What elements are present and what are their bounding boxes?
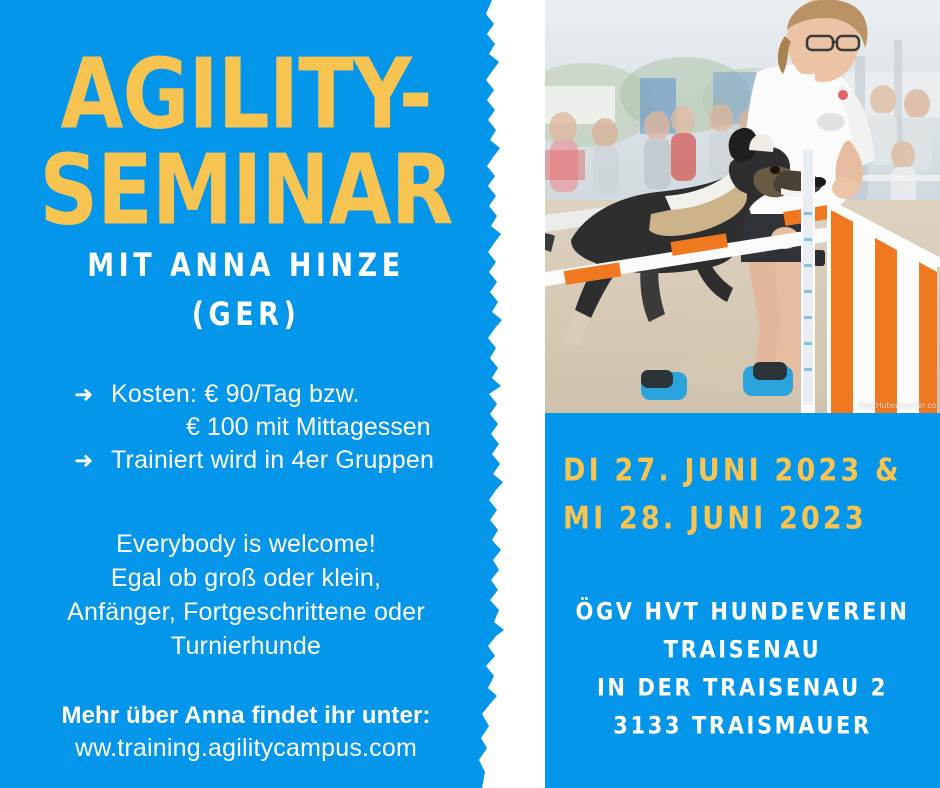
more-info-heading: Mehr über Anna findet ihr unter: [0,700,492,732]
venue-line-4: 3133 TRAISMAUER [545,714,940,738]
welcome-line-2: Egal ob groß oder klein, [0,561,492,595]
poster-title: AGILITY- SEMINAR [0,48,492,221]
welcome-message: Everybody is welcome! Egal ob groß oder … [0,527,492,663]
agility-seminar-poster: AGILITY- SEMINAR MIT ANNA HINZE (GER) ➜ … [0,0,940,788]
agility-photo: BeatHubermacher.co [545,0,940,413]
left-info-panel: AGILITY- SEMINAR MIT ANNA HINZE (GER) ➜ … [0,0,512,788]
venue-line-1: ÖGV HVT HUNDEVEREIN [545,600,940,624]
title-line-1: AGILITY- [0,48,497,142]
list-item: ➜ Kosten: € 90/Tag bzw. [74,378,492,411]
date-line-2: MI 28. JUNI 2023 [563,503,940,534]
bullet-subtext-price-lunch: € 100 mit Mittagessen [186,411,492,444]
venue-line-3: IN DER TRAISENAU 2 [545,676,940,700]
bullet-text-price: Kosten: € 90/Tag bzw. [111,378,492,411]
presenter-block: MIT ANNA HINZE (GER) [0,250,492,326]
details-bullet-list: ➜ Kosten: € 90/Tag bzw. € 100 mit Mittag… [0,378,492,477]
venue-line-2: TRAISENAU [545,638,940,662]
presenter-name: MIT ANNA HINZE [0,250,492,282]
bullet-text-groups: Trainiert wird in 4er Gruppen [111,444,492,477]
event-dates: DI 27. JUNI 2023 & MI 28. JUNI 2023 [545,455,940,530]
right-info-panel: BeatHubermacher.co DI 27. JUNI 2023 & MI… [545,0,940,788]
website-url[interactable]: ww.training.agilitycampus.com [0,732,492,766]
presenter-country: (GER) [0,299,492,331]
agility-photo-illustration [545,0,940,413]
list-item: ➜ Trainiert wird in 4er Gruppen [74,444,492,477]
welcome-line-1: Everybody is welcome! [0,527,492,561]
welcome-line-3: Anfänger, Fortgeschrittene oder [0,595,492,629]
left-panel-content: AGILITY- SEMINAR MIT ANNA HINZE (GER) ➜ … [0,0,492,788]
title-line-2: SEMINAR [0,144,497,238]
right-arrow-icon: ➜ [74,378,104,411]
venue-address: ÖGV HVT HUNDEVEREIN TRAISENAU IN DER TRA… [545,600,940,735]
more-info-block: Mehr über Anna findet ihr unter: ww.trai… [0,700,492,766]
photo-credit-watermark: BeatHubermacher.co [859,401,936,410]
date-line-1: DI 27. JUNI 2023 & [563,455,940,486]
right-arrow-icon: ➜ [74,444,104,477]
welcome-line-4: Turnierhunde [0,629,492,663]
